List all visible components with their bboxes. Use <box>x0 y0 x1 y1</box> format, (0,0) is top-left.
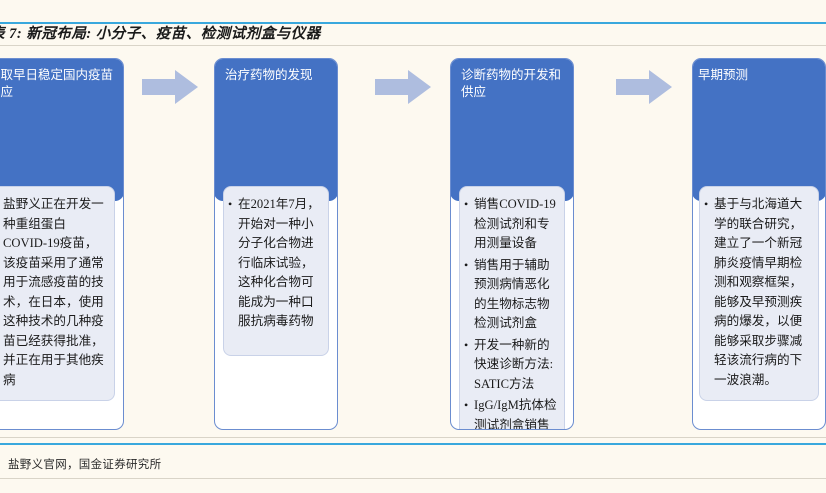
flow-column-body-3: 销售COVID-19检测试剂和专用测量设备 销售用于辅助预测病情恶化的生物标志物… <box>459 186 565 430</box>
flow-column-vaccine-supply[interactable]: 争取早日稳定国内疫苗供应 盐野义正在开发一种重组蛋白COVID-19疫苗，该疫苗… <box>0 58 124 430</box>
flow-column-diagnostics[interactable]: 诊断药物的开发和供应 销售COVID-19检测试剂和专用测量设备 销售用于辅助预… <box>450 58 574 430</box>
source-note: 盐野义官网，国金证券研究所 <box>8 456 161 472</box>
process-flow-diagram: 争取早日稳定国内疫苗供应 盐野义正在开发一种重组蛋白COVID-19疫苗，该疫苗… <box>0 50 826 435</box>
flow-column-early-prediction[interactable]: 早期预测 基于与北海道大学的联合研究，建立了一个新冠肺炎疫情早期检测和观察框架，… <box>692 58 826 430</box>
flow-column-body-2: 在2021年7月，开始对一种小分子化合物进行临床试验，这种化合物可能成为一种口服… <box>223 186 329 356</box>
footer-bottom-rule <box>0 478 826 479</box>
page-title: 表 7: 新冠布局: 小分子、疫苗、检测试剂盒与仪器 <box>0 24 810 44</box>
list-item: 在2021年7月，开始对一种小分子化合物进行临床试验，这种化合物可能成为一种口服… <box>228 195 322 332</box>
list-item: IgG/IgM抗体检测试剂盒销售 <box>464 396 558 430</box>
flow-column-body-4: 基于与北海道大学的联合研究，建立了一个新冠肺炎疫情早期检测和观察框架，能够及早预… <box>699 186 819 401</box>
flow-column-header-4: 早期预测 <box>692 58 826 201</box>
flow-column-body-1: 盐野义正在开发一种重组蛋白COVID-19疫苗，该疫苗采用了通常用于流感疫苗的技… <box>0 186 115 401</box>
list-item: 基于与北海道大学的联合研究，建立了一个新冠肺炎疫情早期检测和观察框架，能够及早预… <box>704 195 812 390</box>
list-item: 销售COVID-19检测试剂和专用测量设备 <box>464 195 558 254</box>
flow-column-title-1: 争取早日稳定国内疫苗供应 <box>0 67 116 101</box>
flow-column-title-4: 早期预测 <box>698 67 818 84</box>
title-underline-rule <box>0 45 826 46</box>
footer-divider-rule <box>0 437 826 438</box>
flow-arrow-3 <box>616 70 672 104</box>
bullet-list-2: 在2021年7月，开始对一种小分子化合物进行临床试验，这种化合物可能成为一种口服… <box>228 195 322 332</box>
list-item: 盐野义正在开发一种重组蛋白COVID-19疫苗，该疫苗采用了通常用于流感疫苗的技… <box>0 195 108 390</box>
flow-column-title-2: 治疗药物的发现 <box>225 67 330 84</box>
flow-column-title-3: 诊断药物的开发和供应 <box>461 67 566 101</box>
footer-accent-rule <box>0 443 826 445</box>
bullet-list-1: 盐野义正在开发一种重组蛋白COVID-19疫苗，该疫苗采用了通常用于流感疫苗的技… <box>0 195 108 390</box>
bullet-list-3: 销售COVID-19检测试剂和专用测量设备 销售用于辅助预测病情恶化的生物标志物… <box>464 195 558 430</box>
list-item: 开发一种新的快速诊断方法: SATIC方法 <box>464 336 558 395</box>
flow-arrow-1 <box>142 70 198 104</box>
flow-column-header-1: 争取早日稳定国内疫苗供应 <box>0 58 124 201</box>
flow-column-header-2: 治疗药物的发现 <box>214 58 338 201</box>
flow-column-header-3: 诊断药物的开发和供应 <box>450 58 574 201</box>
flow-column-therapeutic-discovery[interactable]: 治疗药物的发现 在2021年7月，开始对一种小分子化合物进行临床试验，这种化合物… <box>214 58 338 430</box>
bullet-list-4: 基于与北海道大学的联合研究，建立了一个新冠肺炎疫情早期检测和观察框架，能够及早预… <box>704 195 812 390</box>
flow-arrow-2 <box>375 70 431 104</box>
list-item: 销售用于辅助预测病情恶化的生物标志物检测试剂盒 <box>464 256 558 334</box>
